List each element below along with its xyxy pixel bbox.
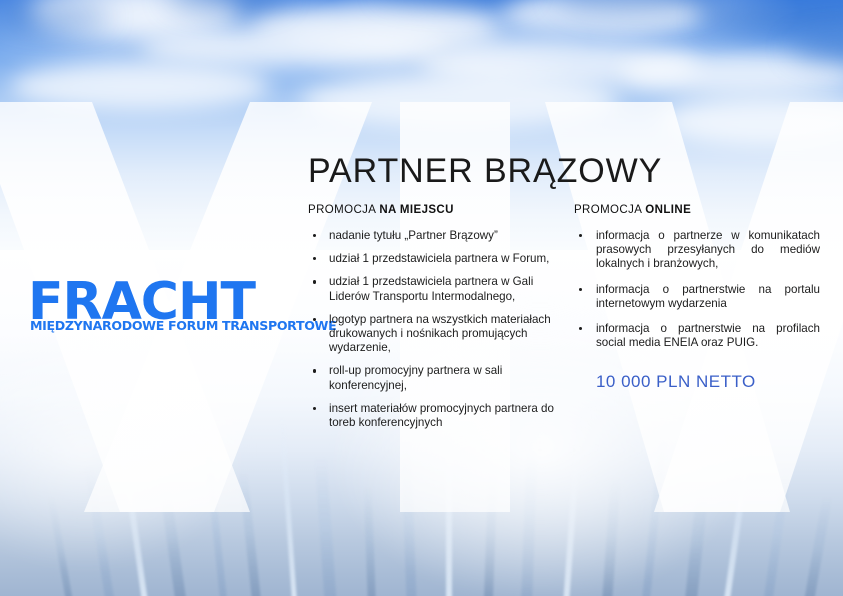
column-heading-right: PROMOCJA ONLINE (574, 204, 820, 216)
column-heading-left-bold: NA MIEJSCU (379, 204, 454, 216)
list-item: udział 1 przedstawiciela partnera w Foru… (308, 252, 564, 266)
column-heading-right-regular: PROMOCJA (574, 204, 645, 216)
columns-wrapper: PROMOCJA NA MIEJSCU nadanie tytułu „Part… (308, 204, 820, 439)
bullet-list-left: nadanie tytułu „Partner Brązowy” udział … (308, 229, 564, 430)
column-heading-left: PROMOCJA NA MIEJSCU (308, 204, 564, 216)
list-item: roll-up promocyjny partnera w sali konfe… (308, 364, 564, 392)
list-item: udział 1 przedstawiciela partnera w Gali… (308, 275, 564, 303)
list-item: informacja o partnerze w komunikatach pr… (574, 229, 820, 272)
bullet-list-right: informacja o partnerze w komunikatach pr… (574, 229, 820, 350)
page-title: PARTNER BRĄZOWY (308, 152, 820, 190)
list-item: logotyp partnera na wszystkich materiała… (308, 313, 564, 356)
slide-content: PARTNER BRĄZOWY PROMOCJA NA MIEJSCU nada… (308, 152, 820, 439)
price-label: 10 000 PLN NETTO (574, 372, 820, 392)
list-item: informacja o partnerstwie na profilach s… (574, 322, 820, 350)
list-item: insert materiałów promocyjnych partnera … (308, 402, 564, 430)
column-online: PROMOCJA ONLINE informacja o partnerze w… (574, 204, 820, 439)
list-item: informacja o partnerstwie na portalu int… (574, 283, 820, 311)
column-heading-left-regular: PROMOCJA (308, 204, 379, 216)
column-na-miejscu: PROMOCJA NA MIEJSCU nadanie tytułu „Part… (308, 204, 574, 439)
slide-canvas: FRACHT MIĘDZYNARODOWE FORUM TRANSPORTOWE… (0, 0, 843, 596)
list-item: nadanie tytułu „Partner Brązowy” (308, 229, 564, 243)
column-heading-right-bold: ONLINE (645, 204, 691, 216)
